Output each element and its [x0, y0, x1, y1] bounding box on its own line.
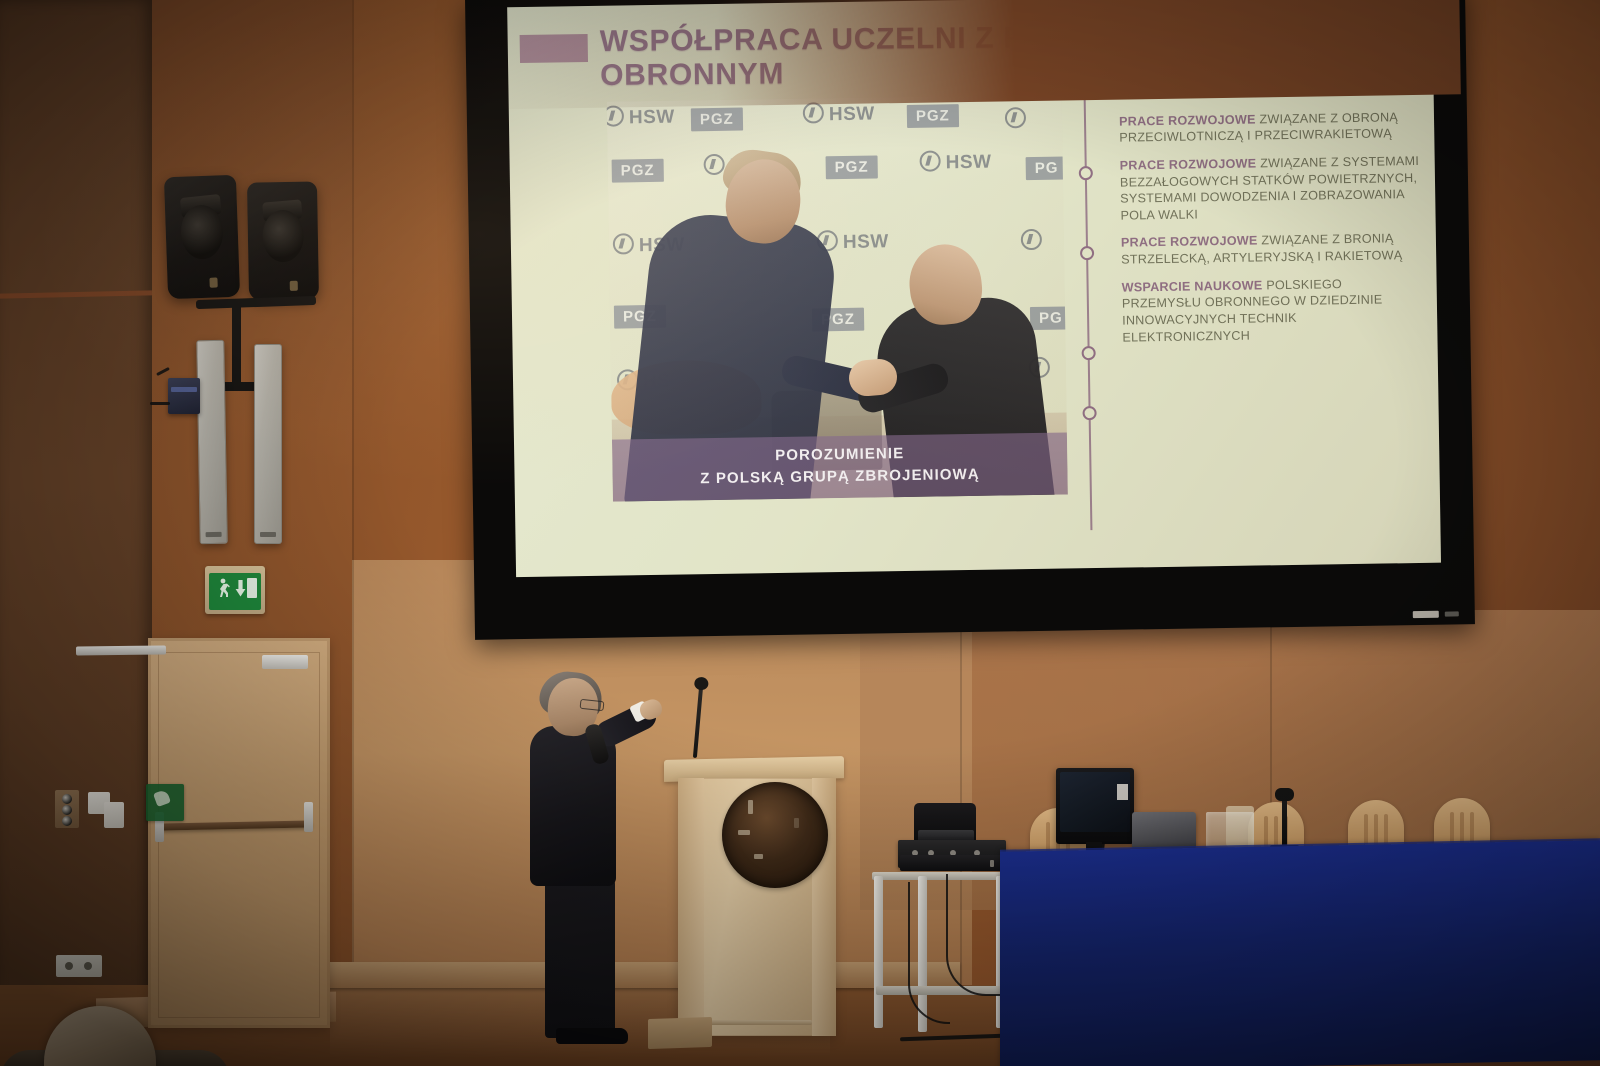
hsw-logo: HSW: [607, 105, 675, 130]
list-item: PRACE ROZWOJOWE ZWIĄZANE Z BRONIĄ STRZEL…: [1121, 230, 1421, 268]
hsw-logo: [1005, 107, 1031, 131]
power-socket[interactable]: [56, 955, 102, 977]
push-bar-mount-right: [304, 802, 313, 832]
pgz-logo: PG: [1026, 156, 1068, 180]
socket-hole: [65, 962, 73, 970]
speaker-woofer: [180, 205, 224, 260]
audio-jack[interactable]: [62, 794, 72, 804]
light-switch-secondary[interactable]: [104, 802, 124, 828]
audio-jack-plate[interactable]: [55, 790, 79, 828]
screen-brand-mark: [1445, 611, 1459, 616]
monitor-label: [1117, 784, 1128, 800]
desktop-monitor[interactable]: [1056, 768, 1134, 844]
presenter-shoes: [556, 1028, 628, 1044]
lectern-left-bevel: [678, 778, 704, 1036]
wall-dark-left: [0, 0, 152, 1066]
audio-jack[interactable]: [62, 816, 72, 826]
pgz-logo: PG: [1030, 306, 1068, 330]
head-table-cloth: [1000, 840, 1600, 1066]
lectern-emblem: [722, 782, 828, 888]
lectern-step: [648, 1017, 712, 1049]
speaker-led: [209, 278, 217, 288]
monitor-screen: [1060, 772, 1130, 832]
timeline-dot-2: [1079, 166, 1093, 180]
speaker-woofer: [262, 210, 303, 263]
timeline-dot-5: [1082, 406, 1096, 420]
wall-seam-1: [352, 0, 354, 1000]
emblem-highlight: [748, 800, 753, 814]
door-closer-arm: [76, 646, 166, 656]
bullet-lead: PRACE ROZWOJOWE: [1118, 51, 1255, 67]
hsw-logo: HSW: [803, 101, 875, 126]
slide-photo: HSW PGZ HSW PGZ PGZ HSW PGZ HSW PG HSW H…: [607, 95, 1068, 502]
door-closer-body: [262, 655, 308, 669]
wireless-receiver-box: [168, 378, 200, 414]
column-speaker-left: [196, 340, 228, 544]
timeline-dot-3: [1080, 246, 1094, 260]
emergency-exit-sign: [205, 566, 265, 614]
timeline-dot-4: [1082, 346, 1096, 360]
list-item: WSPARCIE NAUKOWE POLSKIEGO PRZEMYSŁU OBR…: [1122, 275, 1423, 346]
exit-sign-green-field: [209, 573, 261, 610]
emergency-exit-door[interactable]: [148, 638, 330, 1028]
projected-slide: WSPÓŁPRACA UCZELNI Z PRZEMYSŁEM OBRONNYM…: [507, 0, 1441, 577]
lectern-foot-rail: [700, 1020, 812, 1025]
screen-brand-label: [1413, 611, 1439, 618]
title-accent-block: [520, 34, 588, 63]
photo-caption: POROZUMIENIE Z POLSKĄ GRUPĄ ZBROJENIOWĄ: [612, 432, 1068, 501]
table-microphone: [1282, 798, 1287, 846]
running-man-icon: [216, 578, 230, 598]
speaker-mount-pole: [232, 304, 241, 390]
emblem-highlight: [794, 818, 799, 828]
door-green-sign: [146, 784, 184, 821]
timeline-bullet-list: POROZUMIENIE ZAKŁADA PRACE ROZWOJOWE ZWI…: [1117, 7, 1422, 357]
socket-hole: [84, 962, 92, 970]
pgz-logo: PGZ: [612, 159, 664, 183]
cart-leg: [874, 876, 883, 1028]
cable-bundle-2: [908, 882, 950, 1024]
receiver-display: [171, 387, 198, 392]
bullet-lead: PRACE ROZWOJOWE: [1119, 112, 1256, 128]
timeline-heading: POROZUMIENIE ZAKŁADA: [1117, 7, 1417, 27]
receiver-cable: [150, 402, 170, 405]
list-item: PRACE ROZWOJOWE ZWIĄZANE Z PROJEKTAMI LO…: [1118, 48, 1419, 103]
laptop[interactable]: [1132, 812, 1196, 848]
bullet-lead: PRACE ROZWOJOWE: [1120, 157, 1257, 173]
timeline-line: [1083, 40, 1093, 530]
hsw-logo: [1021, 229, 1047, 253]
hsw-logo: HSW: [919, 150, 991, 175]
wall-baseboard: [320, 962, 960, 988]
column-speaker-right: [254, 344, 282, 544]
exit-door-pictogram: [247, 578, 257, 598]
down-arrow-icon: [235, 580, 246, 597]
list-item: PRACE ROZWOJOWE ZWIĄZANE Z SYSTEMAMI BEZ…: [1120, 153, 1421, 224]
audio-jack[interactable]: [62, 805, 72, 815]
projection-screen-frame: WSPÓŁPRACA UCZELNI Z PRZEMYSŁEM OBRONNYM…: [465, 0, 1475, 640]
mixer-slider[interactable]: [990, 860, 994, 867]
pa-speaker-left: [164, 175, 240, 299]
speaker-led: [289, 280, 297, 290]
timeline-dot-1: [1077, 84, 1091, 98]
presenter-legs: [545, 876, 615, 1038]
pa-speaker-right: [247, 181, 319, 300]
conference-hall-photo: WSPÓŁPRACA UCZELNI Z PRZEMYSŁEM OBRONNYM…: [0, 0, 1600, 1066]
water-glasses: [1206, 812, 1254, 848]
emblem-highlight: [738, 830, 750, 835]
door-panel-inset: [158, 652, 320, 1018]
list-item: PRACE ROZWOJOWE ZWIĄZANE Z OBRONĄ PRZECI…: [1119, 109, 1419, 147]
pgz-logo: PGZ: [691, 108, 743, 132]
pgz-logo: PGZ: [826, 155, 878, 179]
bullet-lead: PRACE ROZWOJOWE: [1121, 234, 1258, 250]
bullet-lead: WSPARCIE NAUKOWE: [1122, 278, 1263, 294]
pgz-logo: PGZ: [907, 104, 959, 128]
emblem-highlight: [754, 854, 763, 859]
